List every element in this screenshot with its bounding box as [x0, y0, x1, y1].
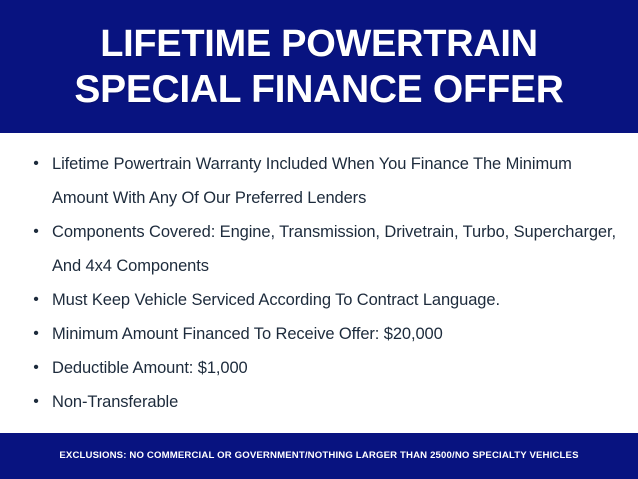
bullet-dot-icon: • — [29, 317, 43, 351]
footer-banner: EXCLUSIONS: NO COMMERCIAL OR GOVERNMENT/… — [0, 433, 638, 479]
list-item: • Lifetime Powertrain Warranty Included … — [20, 147, 618, 215]
bullet-dot-icon: • — [29, 283, 43, 317]
bullet-dot-icon: • — [29, 147, 43, 181]
list-item: • Non-Transferable — [20, 385, 618, 419]
bullet-dot-icon: • — [29, 385, 43, 419]
exclusions-disclaimer: EXCLUSIONS: NO COMMERCIAL OR GOVERNMENT/… — [59, 450, 578, 462]
list-item: • Must Keep Vehicle Serviced According T… — [20, 283, 618, 317]
bullet-dot-icon: • — [29, 215, 43, 249]
list-item-label: Lifetime Powertrain Warranty Included Wh… — [52, 147, 618, 215]
bullet-dot-icon: • — [29, 351, 43, 385]
list-item-label: Deductible Amount: $1,000 — [52, 351, 618, 385]
list-item-label: Components Covered: Engine, Transmission… — [52, 215, 618, 283]
header-banner: LIFETIME POWERTRAIN SPECIAL FINANCE OFFE… — [0, 0, 638, 133]
list-item: • Deductible Amount: $1,000 — [20, 351, 618, 385]
content-area: • Lifetime Powertrain Warranty Included … — [0, 133, 638, 433]
list-item-label: Minimum Amount Financed To Receive Offer… — [52, 317, 618, 351]
slide-root: LIFETIME POWERTRAIN SPECIAL FINANCE OFFE… — [0, 0, 638, 479]
list-item: • Components Covered: Engine, Transmissi… — [20, 215, 618, 283]
list-item-label: Must Keep Vehicle Serviced According To … — [52, 283, 618, 317]
offer-details-list: • Lifetime Powertrain Warranty Included … — [20, 147, 618, 419]
list-item-label: Non-Transferable — [52, 385, 618, 419]
list-item: • Minimum Amount Financed To Receive Off… — [20, 317, 618, 351]
page-title-line-1: LIFETIME POWERTRAIN — [100, 21, 538, 67]
page-title-line-2: SPECIAL FINANCE OFFER — [74, 67, 563, 113]
